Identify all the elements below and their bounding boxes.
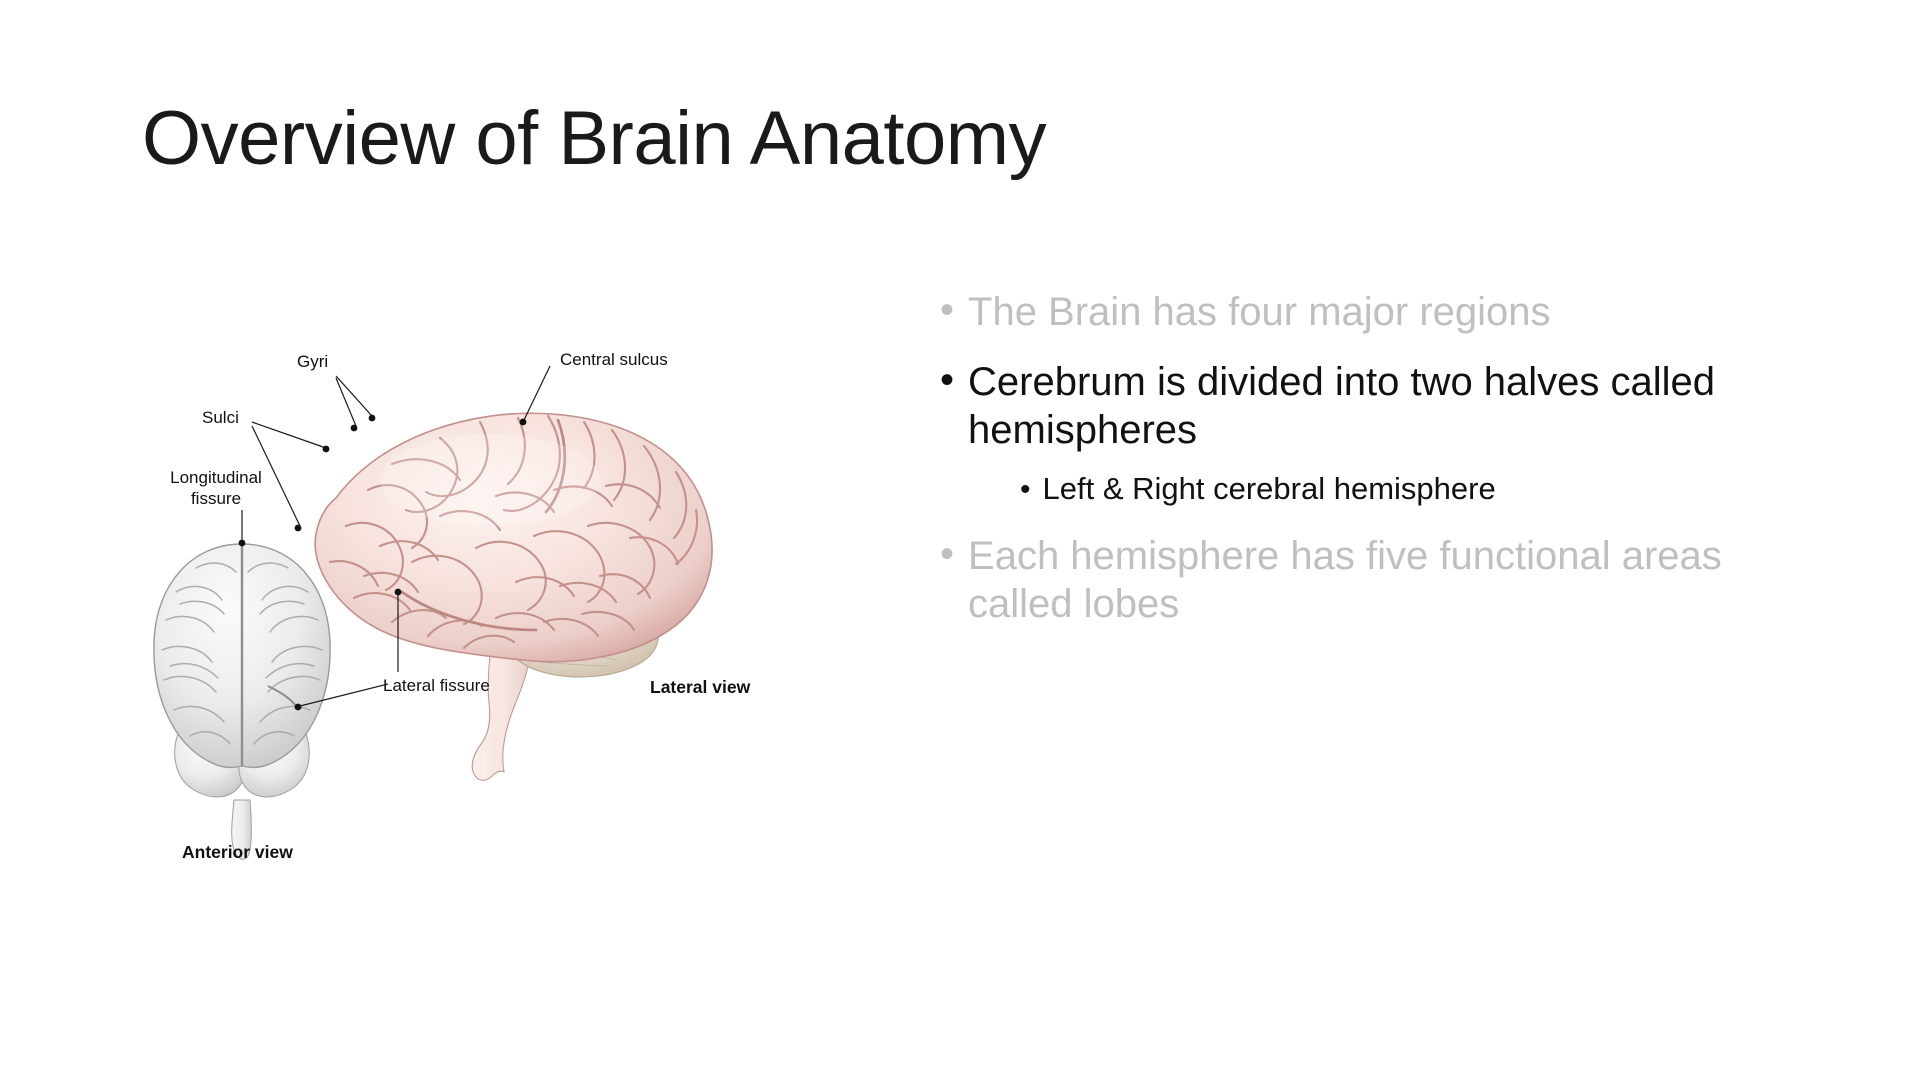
bullet-text-five-lobes: Each hemisphere has five functional area… xyxy=(968,532,1750,628)
list-item: • The Brain has four major regions xyxy=(940,288,1750,336)
lateral-view-brain xyxy=(315,413,712,780)
label-anterior-view: Anterior view xyxy=(182,842,293,863)
list-item: • Each hemisphere has five functional ar… xyxy=(940,532,1750,628)
bullet-text-left-right-hemisphere: Left & Right cerebral hemisphere xyxy=(1043,470,1750,508)
brain-illustration-svg xyxy=(140,330,840,890)
longitudinal-fissure-dot xyxy=(239,540,246,547)
gyri-dot-1 xyxy=(369,415,376,422)
bullet-marker-icon: • xyxy=(940,357,954,404)
sulci-dot-1 xyxy=(323,446,330,453)
spacer xyxy=(940,456,1750,470)
label-lateral-view: Lateral view xyxy=(650,677,750,698)
list-item: • Cerebrum is divided into two halves ca… xyxy=(940,358,1750,454)
spacer xyxy=(940,510,1750,532)
bullet-text-cerebrum-hemispheres: Cerebrum is divided into two halves call… xyxy=(968,358,1750,454)
label-gyri: Gyri xyxy=(297,352,328,373)
slide-canvas: Overview of Brain Anatomy xyxy=(0,0,1920,1080)
label-longitudinal-fissure: Longitudinal fissure xyxy=(156,468,276,509)
label-longitudinal-fissure-line2: fissure xyxy=(191,489,241,508)
label-longitudinal-fissure-line1: Longitudinal xyxy=(170,468,262,487)
label-central-sulcus: Central sulcus xyxy=(560,350,668,371)
label-lateral-fissure: Lateral fissure xyxy=(383,676,490,697)
anterior-view-brain xyxy=(154,544,330,859)
list-item: • Left & Right cerebral hemisphere xyxy=(940,470,1750,508)
gyri-dot-2 xyxy=(351,425,358,432)
lateral-fissure-dot xyxy=(395,589,402,596)
brain-anatomy-figure: Gyri Central sulcus Sulci Longitudinal f… xyxy=(140,330,840,890)
bullet-marker-icon: • xyxy=(1020,472,1031,507)
spacer xyxy=(940,338,1750,358)
sulci-dot-2 xyxy=(295,525,302,532)
central-sulcus-dot xyxy=(520,419,527,426)
label-sulci: Sulci xyxy=(202,408,239,429)
anterior-lateral-fissure-dot xyxy=(295,704,302,711)
bullet-marker-icon: • xyxy=(940,531,954,578)
cortex-highlight xyxy=(380,434,600,526)
bullet-text-brain-regions: The Brain has four major regions xyxy=(968,288,1750,336)
content-placeholder: • The Brain has four major regions • Cer… xyxy=(940,288,1750,630)
bullet-marker-icon: • xyxy=(940,287,954,334)
page-title: Overview of Brain Anatomy xyxy=(142,98,1762,180)
